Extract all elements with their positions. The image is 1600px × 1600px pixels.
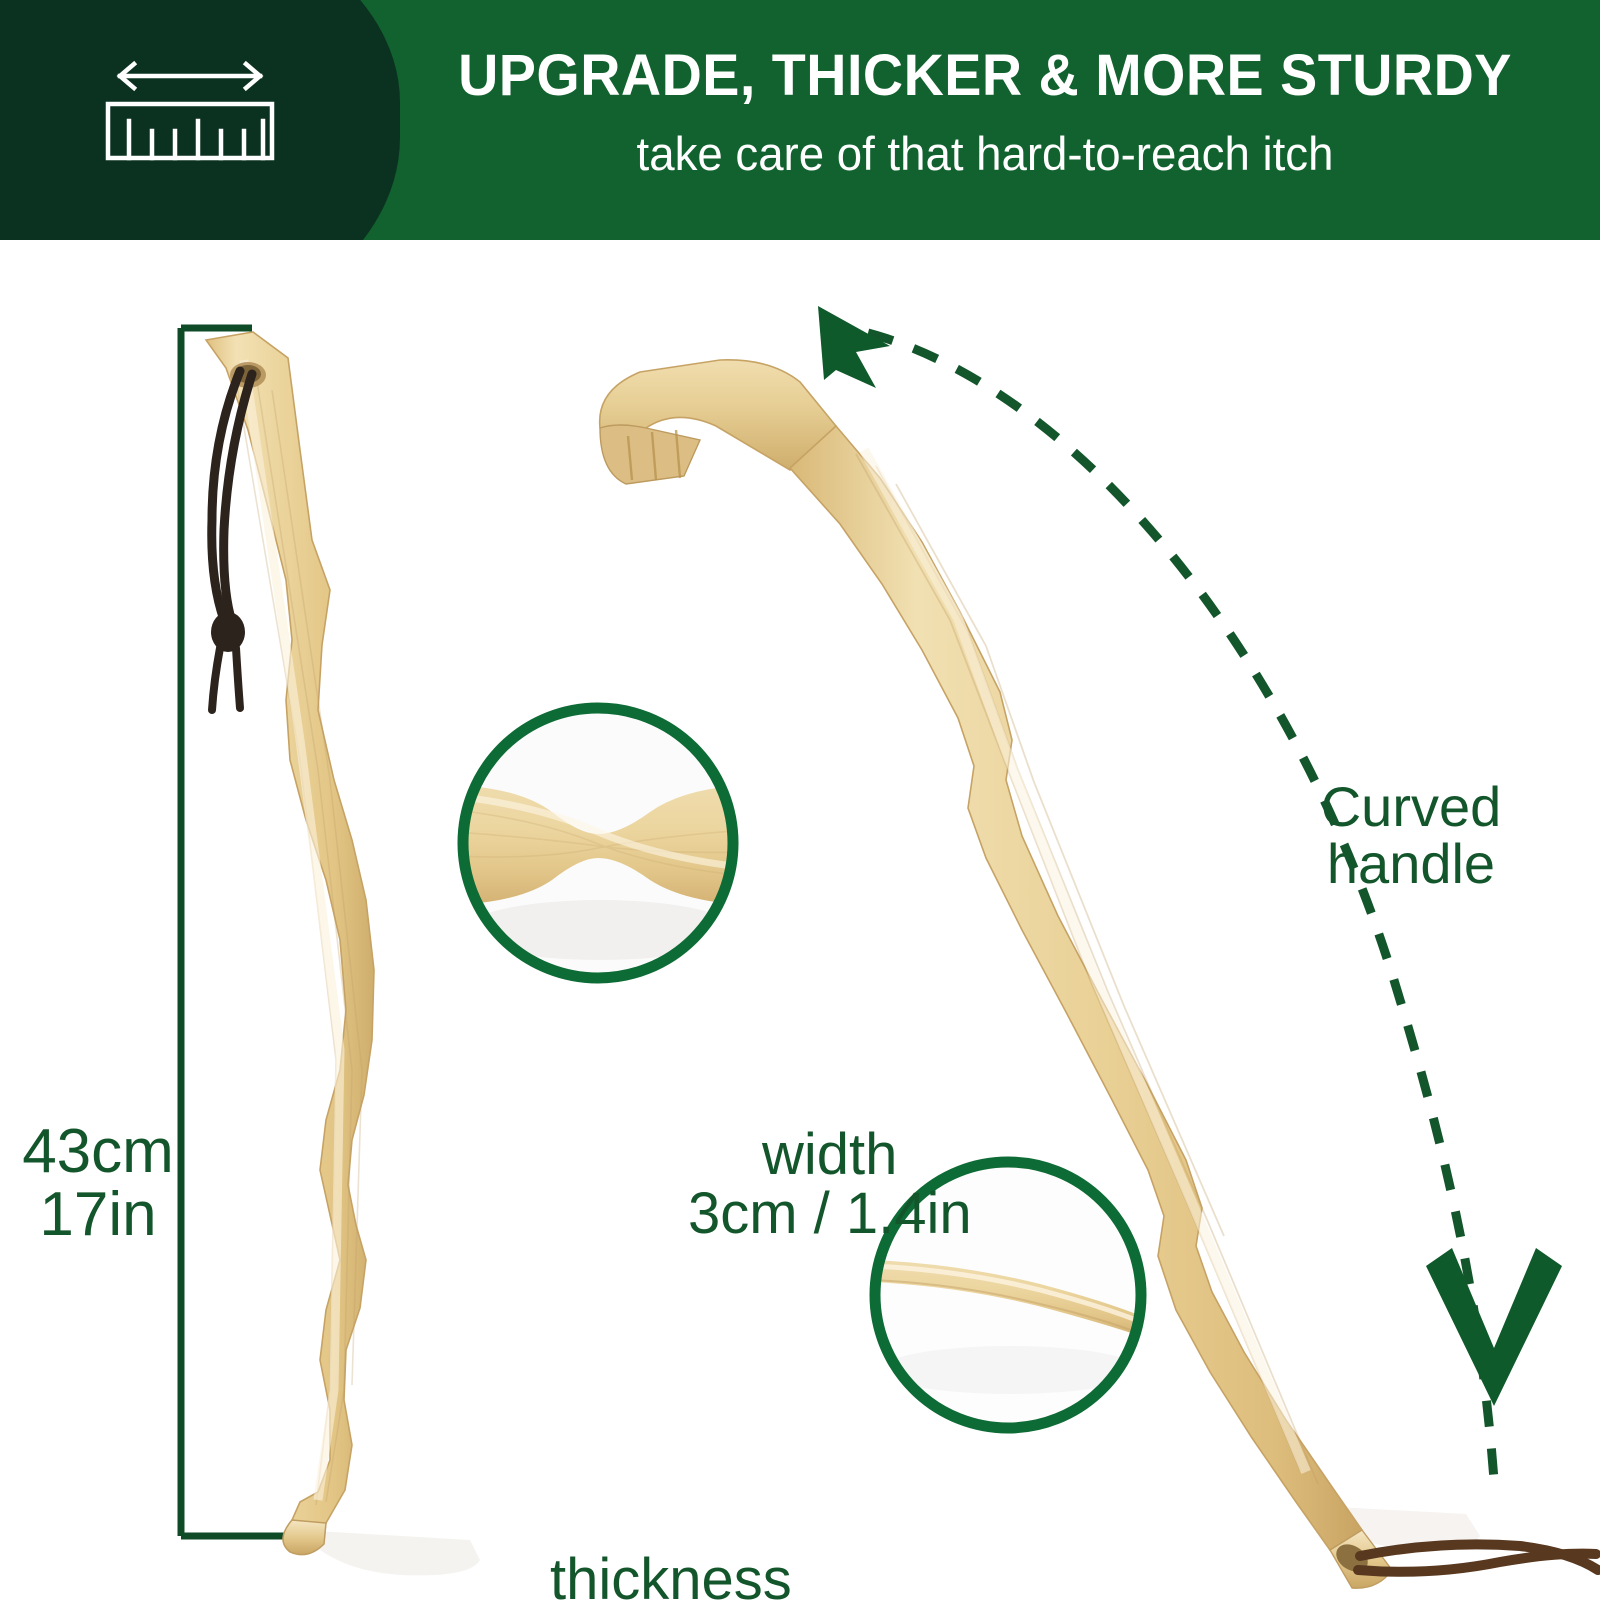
banner-subtitle: take care of that hard-to-reach itch [408, 128, 1562, 180]
length-dimension-label: 43cm 17in [8, 1120, 188, 1246]
curved-line1: Curved [1296, 778, 1526, 835]
hanging-cord-left [212, 371, 252, 622]
product-stage: 43cm 17in width 3cm / 1.4in thickness 0.… [0, 240, 1600, 1600]
header-banner: UPGRADE, THICKER & MORE STURDY take care… [0, 0, 1600, 240]
arrowhead-up-icon [818, 306, 890, 388]
width-dimension-label: width 3cm / 1.4in [688, 1125, 972, 1243]
infographic-page: UPGRADE, THICKER & MORE STURDY take care… [0, 0, 1600, 1600]
thickness-title: thickness [492, 1550, 856, 1600]
hanging-cord-right [1358, 1544, 1598, 1571]
cord-knot-left [211, 612, 245, 652]
width-zoom-circle [455, 700, 748, 990]
arrowhead-down-icon [1426, 1248, 1562, 1406]
thickness-dimension-label: thickness 0.7cm / 0.27in [492, 1550, 856, 1600]
curved-line2: handle [1296, 835, 1526, 892]
length-in: 17in [8, 1183, 188, 1246]
curved-handle-label: Curved handle [1296, 778, 1526, 892]
width-title: width [688, 1125, 972, 1184]
width-value: 3cm / 1.4in [688, 1184, 972, 1243]
ruler-measure-icon [100, 52, 280, 182]
length-cm: 43cm [22, 1117, 174, 1186]
banner-title: UPGRADE, THICKER & MORE STURDY [414, 46, 1556, 107]
back-scratcher-front-view [206, 332, 480, 1575]
